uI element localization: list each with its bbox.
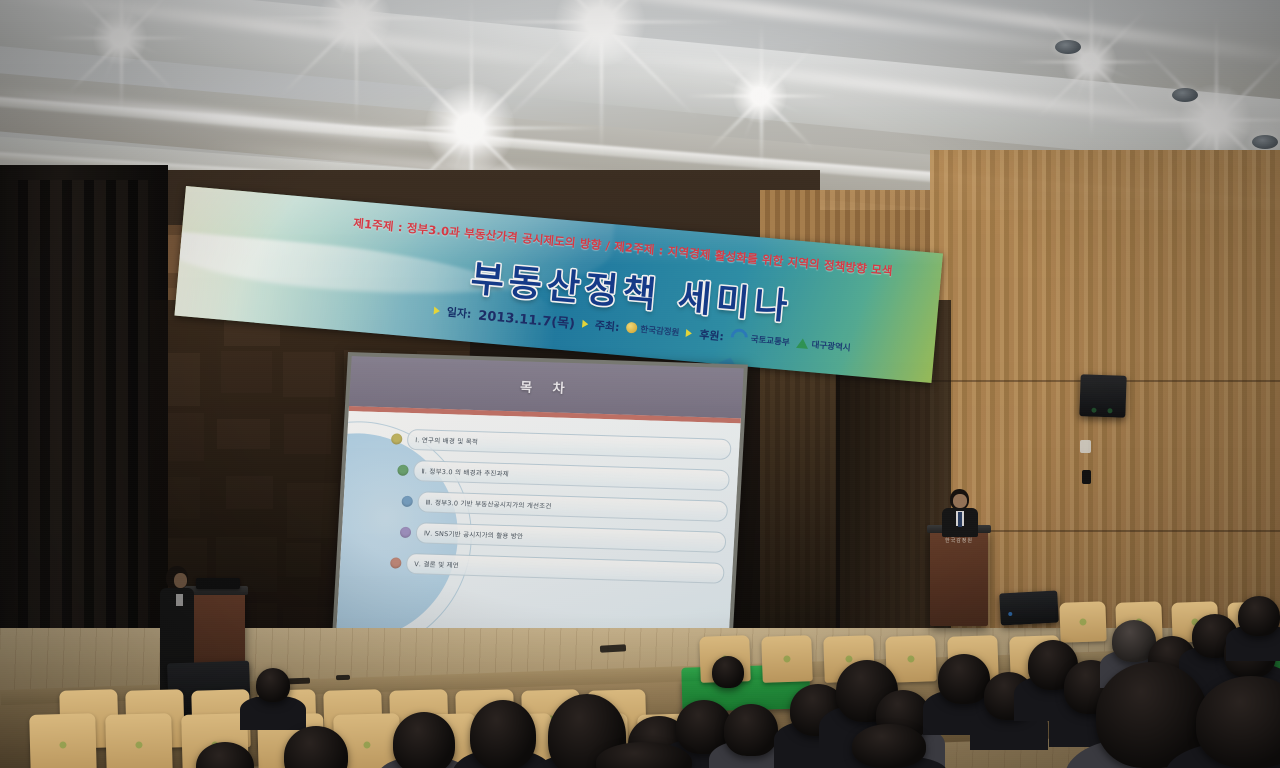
seat-knob — [135, 741, 142, 748]
wall-mounted-speaker — [1079, 374, 1126, 418]
audience-head — [712, 656, 744, 688]
host-logo: 한국감정원 — [626, 321, 680, 338]
wall-fixture-white — [1080, 440, 1091, 453]
host-logo-mark-icon — [626, 322, 638, 334]
toc-bullet-icon — [401, 495, 413, 506]
seat-knob — [59, 741, 66, 748]
seat-knob — [363, 741, 370, 748]
banner-host-label: 주최: — [594, 316, 620, 334]
slide-body: Ⅰ. 연구의 배경 및 목적Ⅱ. 정부3.0 의 배경과 추진과제Ⅲ. 정부3.… — [335, 411, 740, 660]
auditorium-photo: 제1주제 : 정부3.0과 부동산가격 공시제도의 방향 / 제2주제 : 지역… — [0, 0, 1280, 768]
toc-bullet-icon — [400, 526, 412, 537]
sponsor-name-1: 국토교통부 — [750, 332, 790, 347]
floor-cable-object — [336, 675, 350, 680]
seat — [105, 713, 173, 768]
recessed-downlight — [1252, 135, 1278, 149]
seat — [1059, 601, 1106, 643]
audience-head — [470, 700, 536, 768]
ceiling-spotlight — [93, 11, 147, 65]
bullet-icon — [582, 319, 589, 328]
toc-item-label: Ⅳ. SNS기반 공시지가의 활용 방안 — [415, 522, 726, 553]
bullet-icon — [434, 306, 441, 315]
sponsor-name-2: 대구광역시 — [811, 338, 851, 353]
audience-head — [724, 704, 778, 756]
slide-toc-item: Ⅳ. SNS기반 공시지가의 활용 방안 — [399, 519, 726, 554]
toc-item-label: Ⅰ. 연구의 배경 및 목적 — [407, 429, 732, 460]
audience-head — [256, 668, 290, 702]
projection-screen: 목 차 Ⅰ. 연구의 배경 및 목적Ⅱ. 정부3.0 의 배경과 추진과제Ⅲ. … — [331, 352, 748, 664]
molit-arc-icon — [727, 325, 751, 349]
audience-head — [938, 654, 990, 704]
person-face — [174, 573, 187, 588]
seat — [29, 713, 97, 768]
slide-toc-item: Ⅴ. 결론 및 제언 — [390, 550, 725, 585]
toc-item-label: Ⅴ. 결론 및 제언 — [406, 553, 725, 584]
host-name: 한국감정원 — [640, 322, 680, 337]
floor-cable-object — [600, 644, 626, 652]
slide-toc-item: Ⅱ. 정부3.0 의 배경과 추진과제 — [397, 457, 730, 492]
person-shirt — [176, 594, 183, 606]
daegu-triangle-icon — [796, 337, 809, 348]
podium-right: 한국감정원 — [930, 530, 988, 626]
slide-toc-list: Ⅰ. 연구의 배경 및 목적Ⅱ. 정부3.0 의 배경과 추진과제Ⅲ. 정부3.… — [383, 426, 732, 591]
person-face — [953, 494, 967, 508]
toc-item-label: Ⅱ. 정부3.0 의 배경과 추진과제 — [413, 460, 730, 491]
toc-bullet-icon — [390, 557, 402, 568]
audience-head — [393, 712, 455, 768]
audience-head — [1238, 596, 1280, 636]
seat-knob — [1079, 618, 1086, 625]
seat-knob — [845, 655, 852, 662]
slide-title: 목 차 — [520, 377, 574, 398]
podium-left-monitor — [196, 578, 240, 589]
banner-sponsor-label: 후원: — [699, 326, 725, 344]
seat-knob — [783, 655, 790, 662]
person-speaker-right — [942, 489, 978, 537]
slide-toc-item: Ⅰ. 연구의 배경 및 목적 — [391, 426, 732, 462]
presentation-slide: 목 차 Ⅰ. 연구의 배경 및 목적Ⅱ. 정부3.0 의 배경과 추진과제Ⅲ. … — [335, 356, 743, 660]
floor-cable-object — [288, 678, 310, 685]
seat — [761, 635, 813, 683]
audience-head — [852, 724, 926, 768]
wall-bracket — [1082, 470, 1091, 484]
seat-knob — [907, 655, 914, 662]
bullet-icon — [686, 329, 693, 338]
slide-toc-item: Ⅲ. 정부3.0 기반 부동산공시지가의 개선조건 — [401, 488, 728, 523]
stage-monitor-speaker-right — [999, 591, 1059, 626]
sponsor-logo-daegu: 대구광역시 — [796, 336, 851, 353]
recessed-downlight — [1172, 88, 1198, 102]
toc-item-label: Ⅲ. 정부3.0 기반 부동산공시지가의 개선조건 — [417, 491, 728, 522]
toc-bullet-icon — [397, 464, 409, 475]
podium-sign-text: 한국감정원 — [945, 537, 973, 544]
recessed-downlight — [1055, 40, 1081, 54]
ceiling-spotlight — [425, 83, 515, 173]
ceiling-spotlight — [733, 69, 787, 123]
banner-date-label: 일자: — [446, 303, 472, 321]
person-tie — [958, 512, 962, 527]
toc-bullet-icon — [391, 433, 403, 444]
